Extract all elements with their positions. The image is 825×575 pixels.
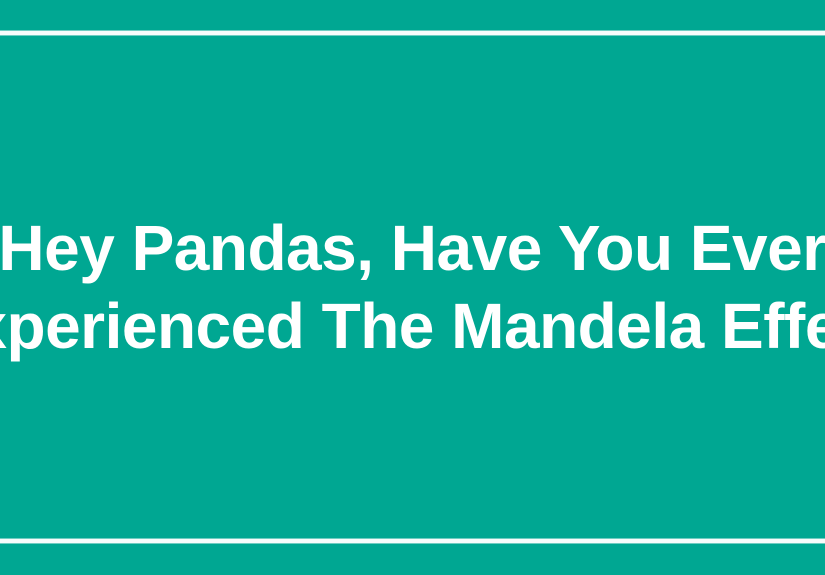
banner-headline: Hey Pandas, Have You Ever Experienced Th… <box>0 209 825 365</box>
headline-line-2: Experienced The Mandela Effect <box>0 287 825 365</box>
headline-line-1: Hey Pandas, Have You Ever <box>0 209 825 287</box>
banner-container: Hey Pandas, Have You Ever Experienced Th… <box>0 0 825 575</box>
top-divider-rule <box>0 31 825 35</box>
bottom-divider-rule <box>0 539 825 543</box>
